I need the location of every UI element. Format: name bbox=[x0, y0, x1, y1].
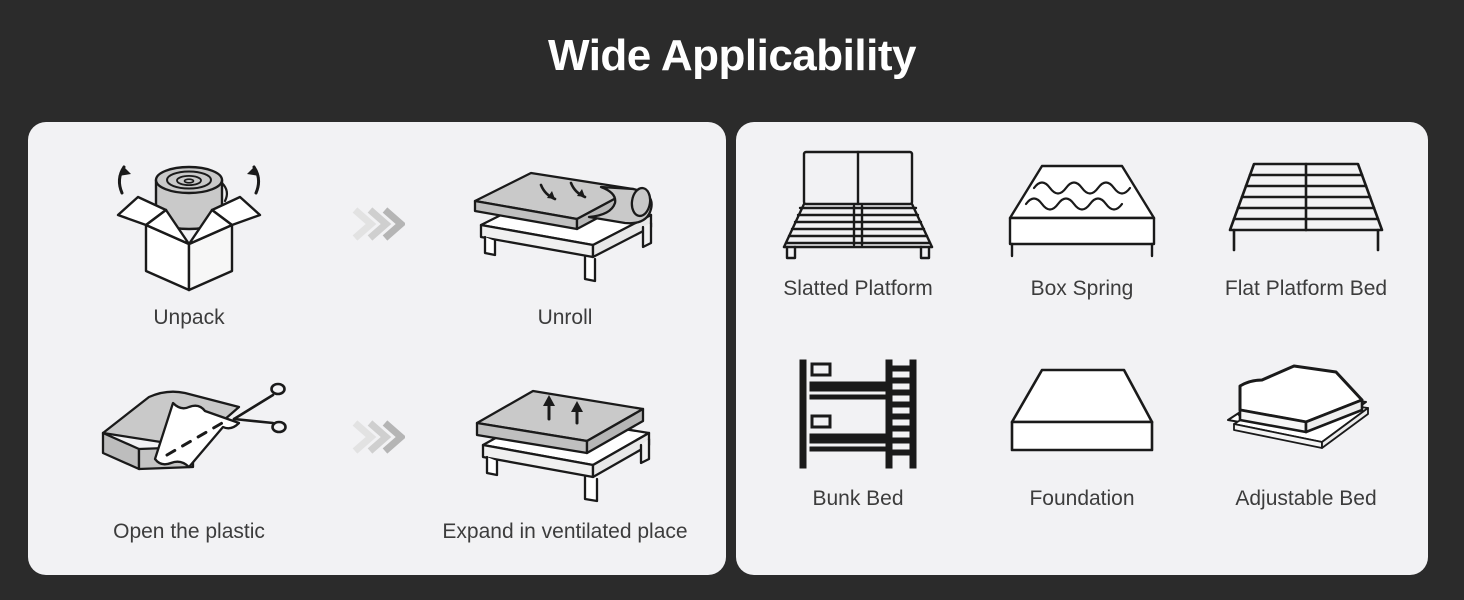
bed-item-slatted-platform: Slatted Platform bbox=[746, 140, 970, 350]
compatible-bases-panel: Slatted Platform bbox=[736, 122, 1428, 575]
foundation-icon bbox=[1000, 350, 1164, 478]
step-item-unpack: Unpack bbox=[44, 153, 334, 328]
step-item-unroll: Unroll bbox=[420, 153, 710, 328]
bed-item-foundation: Foundation bbox=[970, 350, 1194, 560]
step-label: Unpack bbox=[153, 307, 224, 328]
step-arrow-2 bbox=[334, 415, 420, 493]
setup-steps-panel: Unpack bbox=[28, 122, 726, 575]
step-item-open-plastic: Open the plastic bbox=[44, 367, 334, 542]
bunk-bed-icon bbox=[794, 350, 922, 478]
bed-item-adjustable-bed: Adjustable Bed bbox=[1194, 350, 1418, 560]
step-item-expand: Expand in ventilated place bbox=[420, 367, 710, 542]
step-arrow-1 bbox=[334, 202, 420, 280]
mattress-unrolling-on-bed-icon bbox=[465, 153, 665, 293]
bed-item-flat-platform-bed: Flat Platform Bed bbox=[1194, 140, 1418, 350]
flat-platform-bed-icon bbox=[1224, 140, 1388, 268]
slatted-platform-bed-icon bbox=[776, 140, 940, 268]
bed-label: Slatted Platform bbox=[783, 278, 932, 299]
bed-item-box-spring: Box Spring bbox=[970, 140, 1194, 350]
box-spring-icon bbox=[1000, 140, 1164, 268]
compatible-bases-grid: Slatted Platform bbox=[736, 122, 1428, 575]
scissors-cutting-plastic-icon bbox=[89, 367, 289, 507]
bed-label: Box Spring bbox=[1031, 278, 1134, 299]
bed-label: Flat Platform Bed bbox=[1225, 278, 1387, 299]
page-title: Wide Applicability bbox=[0, 34, 1464, 78]
box-with-mattress-roll-icon bbox=[94, 153, 284, 293]
step-label: Open the plastic bbox=[113, 521, 265, 542]
bed-label: Bunk Bed bbox=[812, 488, 903, 509]
bed-label: Adjustable Bed bbox=[1235, 488, 1376, 509]
triple-chevron-right-icon bbox=[349, 415, 405, 459]
step-label: Unroll bbox=[538, 307, 593, 328]
mattress-expanding-on-bed-icon bbox=[465, 367, 665, 507]
panels-container: Unpack bbox=[28, 122, 1428, 575]
bed-item-bunk-bed: Bunk Bed bbox=[746, 350, 970, 560]
triple-chevron-right-icon bbox=[349, 202, 405, 246]
adjustable-bed-icon bbox=[1216, 350, 1396, 478]
bed-label: Foundation bbox=[1029, 488, 1134, 509]
setup-steps-grid: Unpack bbox=[28, 122, 726, 575]
step-label: Expand in ventilated place bbox=[442, 521, 687, 542]
